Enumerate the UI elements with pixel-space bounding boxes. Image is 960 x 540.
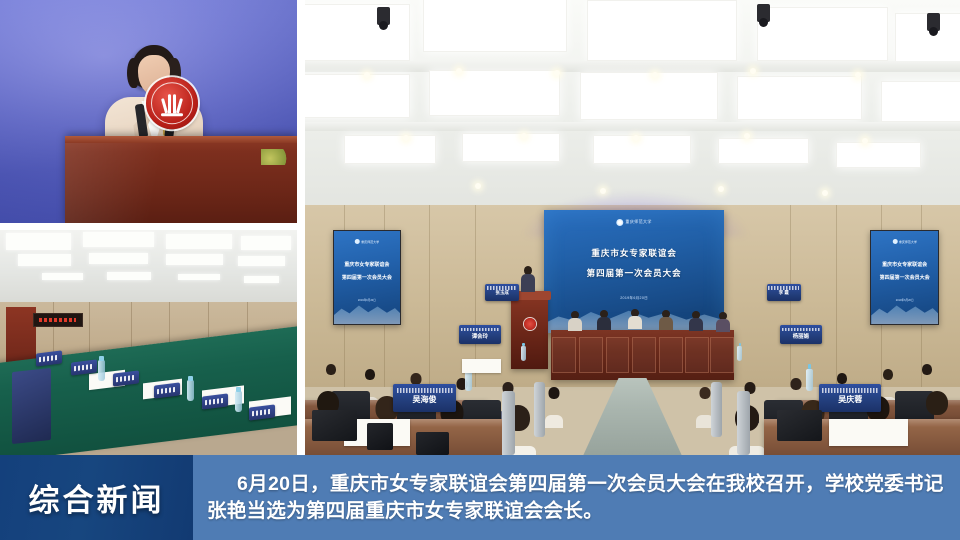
head-table — [551, 330, 734, 380]
organization-logo: 重庆师范大学 — [355, 239, 380, 244]
nameplate-name: 杨丽娟 — [780, 332, 822, 340]
dais-official — [597, 310, 611, 329]
nameplate: 吴庆蓉 — [819, 384, 881, 411]
photo-audience-voting — [0, 230, 297, 455]
nameplate: 张玉成 — [485, 284, 519, 300]
ceiling-projector-right — [757, 4, 770, 22]
dais-official — [716, 312, 730, 331]
chair-rail — [534, 382, 544, 437]
university-seal-icon — [524, 318, 536, 330]
news-photo-collage-page: 重庆师范大学 重庆市女专家联谊会 第四届第一次会员大会 2019年6月20日 重… — [0, 0, 960, 540]
side-led-screen-left: 重庆师范大学 重庆市女专家联谊会 第四届第一次会员大会 2019年6月20日 — [333, 230, 402, 326]
paper-sheet — [462, 359, 501, 373]
ceiling — [0, 230, 297, 307]
tablet-device — [777, 410, 823, 442]
photo-conference-hall-wide: 重庆师范大学 重庆市女专家联谊会 第四届第一次会员大会 2019年6月20日 重… — [305, 0, 960, 455]
coffered-ceiling — [305, 0, 960, 218]
nameplate: 吴海俊 — [393, 384, 455, 411]
organization-logo: 重庆师范大学 — [616, 219, 651, 226]
caption-category-text: 综合新闻 — [29, 475, 165, 520]
dais-official — [628, 309, 642, 328]
caption-body-text: 6月20日，重庆市女专家联谊会第四届第一次会员大会在我校召开，学校党委书记张艳当… — [207, 471, 944, 525]
water-bottle — [806, 369, 813, 391]
paper-sheet — [829, 419, 908, 446]
ceiling-projector-left — [377, 7, 390, 25]
university-seal-icon — [146, 77, 198, 129]
nameplate: 谭会玲 — [459, 325, 501, 344]
logo-text: 重庆师范大学 — [361, 240, 379, 244]
screen-title-line2: 第四届第一次会员大会 — [880, 274, 930, 281]
screen-title-line1: 重庆市女专家联谊会 — [591, 247, 677, 259]
screen-title-line1: 重庆市女专家联谊会 — [882, 261, 927, 268]
side-led-screen-right: 重庆师范大学 重庆市女专家联谊会 第四届第一次会员大会 2019年6月20日 — [870, 230, 939, 326]
nameplate-header — [822, 388, 878, 393]
chair-rail — [502, 391, 515, 455]
tablet-device — [312, 410, 358, 442]
chair-rail — [737, 391, 750, 455]
nameplate-name: 吴庆蓉 — [819, 394, 881, 405]
screen-title-line2: 第四届第一次会员大会 — [342, 274, 392, 281]
screen-date-line: 2019年6月20日 — [358, 298, 376, 302]
stage-speaker-figure — [518, 266, 538, 298]
organization-logo: 重庆师范大学 — [892, 239, 917, 244]
logo-mark-icon — [892, 239, 897, 244]
screen-title-line2: 第四届第一次会员大会 — [587, 267, 682, 279]
water-bottle — [521, 346, 526, 361]
attendee — [541, 387, 567, 428]
photo-collage: 重庆师范大学 重庆市女专家联谊会 第四届第一次会员大会 2019年6月20日 重… — [0, 0, 960, 455]
dais-official — [659, 310, 673, 329]
dais-official — [689, 311, 703, 330]
nameplate-name: 吴海俊 — [393, 394, 455, 405]
led-sign — [33, 313, 83, 327]
nameplate-header — [397, 388, 453, 393]
screen-date-line: 2019年6月20日 — [620, 296, 648, 301]
stage-podium — [511, 291, 548, 368]
caption-body: 6月20日，重庆市女专家联谊会第四届第一次会员大会在我校召开，学校党委书记张艳当… — [193, 455, 960, 540]
floor-monitor — [12, 367, 51, 443]
ceiling-projector-far-right — [927, 13, 940, 31]
nameplate-name: 张玉成 — [485, 290, 519, 296]
logo-text: 重庆师范大学 — [899, 240, 917, 244]
screen-title-line1: 重庆市女专家联谊会 — [344, 261, 389, 268]
caption-category-label: 综合新闻 — [0, 455, 193, 540]
logo-mark-icon — [355, 239, 360, 244]
caption-bar: 综合新闻 6月20日，重庆市女专家联谊会第四届第一次会员大会在我校召开，学校党委… — [0, 455, 960, 540]
nameplate: 杨丽娟 — [780, 325, 822, 344]
stage-plants — [261, 149, 291, 165]
mobile-phone — [416, 432, 449, 455]
chair-rail — [711, 382, 721, 437]
dais-official — [568, 311, 582, 330]
seal-glyph — [163, 93, 181, 113]
nameplate-name: 谭会玲 — [459, 332, 501, 340]
logo-mark-icon — [616, 219, 623, 226]
nameplate-name: 李 霞 — [767, 290, 801, 296]
logo-text: 重庆师范大学 — [625, 219, 651, 225]
water-bottle — [737, 346, 742, 361]
photo-speaker-at-podium — [0, 0, 297, 223]
mobile-phone — [367, 423, 393, 450]
nameplate: 李 霞 — [767, 284, 801, 300]
screen-date-line: 2019年6月20日 — [896, 298, 914, 302]
